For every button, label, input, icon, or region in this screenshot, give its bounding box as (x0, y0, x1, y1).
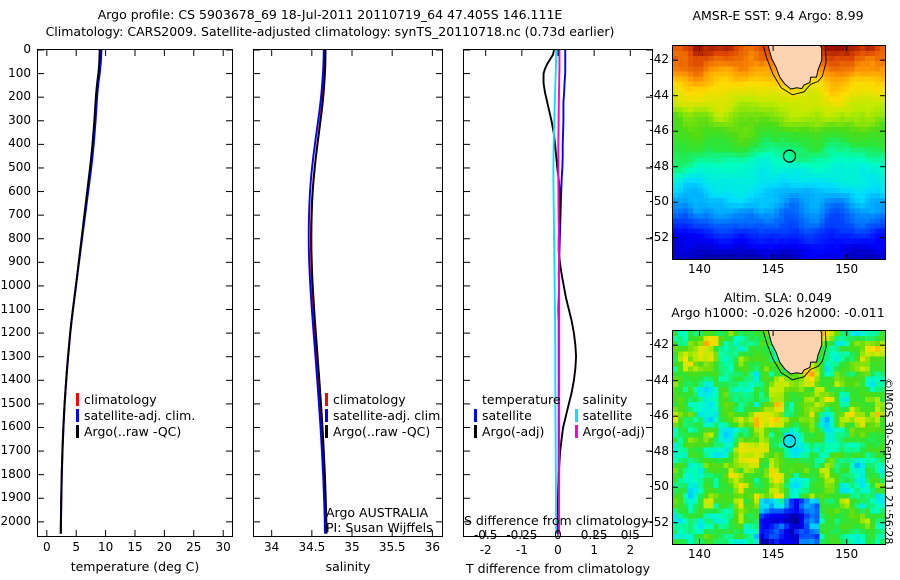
tick-label: 100 (0, 66, 31, 80)
sst-map-panel (672, 45, 886, 260)
legend-entry: climatology (325, 392, 444, 407)
tick-label: 36 (402, 540, 462, 554)
tick-label: 1000 (0, 278, 31, 292)
tick-label: -52 (637, 230, 669, 244)
legend-swatch (474, 409, 477, 422)
tick-label: 600 (0, 184, 31, 198)
legend-swatch (575, 425, 578, 438)
legend-label: Argo(-adj) (482, 424, 544, 439)
temperature-legend: climatologysatellite-adj. clim.Argo(..ra… (76, 392, 195, 440)
pi-label: PI: Susan Wijffels (326, 520, 433, 535)
legend-swatch (325, 393, 328, 406)
difference-s-axis-label: S difference from climatology (464, 513, 648, 528)
tick-label: -42 (637, 337, 669, 351)
figure-title-line2: Climatology: CARS2009. Satellite-adjuste… (0, 23, 660, 40)
tick-label: 1900 (0, 490, 31, 504)
agency-label: Argo AUSTRALIA (326, 505, 428, 520)
tick-label: -46 (637, 123, 669, 137)
tick-label: 700 (0, 207, 31, 221)
tick-label: 1500 (0, 396, 31, 410)
tick-label: 900 (0, 254, 31, 268)
legend-entry: satellite-adj. clim. (325, 408, 444, 423)
legend-entry: Argo(..raw -QC) (76, 424, 195, 439)
tick-label: 1600 (0, 419, 31, 433)
legend-swatch (76, 393, 79, 406)
tick-label: 0 (0, 42, 31, 56)
tick-label: -42 (637, 52, 669, 66)
legend-heading: salinity (583, 392, 649, 407)
salinity-profile-panel (253, 49, 443, 537)
tick-label: -50 (637, 479, 669, 493)
sla-map-title: Altim. SLA: 0.049 Argo h1000: -0.026 h20… (663, 290, 893, 320)
legend-swatch (325, 425, 328, 438)
legend-label: Argo(-adj) (583, 424, 645, 439)
legend-heading: temperature (482, 392, 561, 407)
sla-map-title-line2: Argo h1000: -0.026 h2000: -0.011 (663, 305, 893, 320)
difference-plot-area (464, 50, 652, 536)
legend-label: climatology (333, 392, 406, 407)
legend-label: satellite-adj. clim. (333, 408, 444, 423)
imos-credit: ©IMOS 30-Sep-2011 21:56:28 (882, 378, 895, 544)
legend-swatch (575, 409, 578, 422)
legend-entry: climatology (76, 392, 195, 407)
legend-swatch (474, 425, 477, 438)
legend-label: satellite (583, 408, 633, 423)
sla-map-title-line1: Altim. SLA: 0.049 (663, 290, 893, 305)
legend-entry: satellite-adj. clim. (76, 408, 195, 423)
salinity-plot-area (254, 50, 442, 536)
tick-label: 145 (743, 547, 803, 561)
tick-label: -48 (637, 159, 669, 173)
legend-swatch (76, 425, 79, 438)
difference-t-axis-label: T difference from climatology (455, 561, 661, 576)
sst-map-title: AMSR-E SST: 9.4 Argo: 8.99 (663, 8, 893, 23)
tick-label: -44 (637, 88, 669, 102)
legend-entry: satellite (474, 408, 561, 423)
tick-label: -52 (637, 515, 669, 529)
tick-label: 300 (0, 113, 31, 127)
tick-label: 500 (0, 160, 31, 174)
temperature-profile-panel (37, 49, 233, 537)
tick-label: -46 (637, 408, 669, 422)
tick-label: 1400 (0, 372, 31, 386)
figure-title-line1: Argo profile: CS 5903678_69 18-Jul-2011 … (0, 6, 660, 23)
tick-label: 150 (817, 262, 877, 276)
legend-label: climatology (84, 392, 157, 407)
tick-label: 145 (743, 262, 803, 276)
legend-label: Argo(..raw -QC) (333, 424, 430, 439)
tick-label: 140 (670, 262, 730, 276)
temperature-x-axis-label: temperature (deg C) (37, 559, 233, 574)
sla-map-image (673, 331, 885, 544)
legend-label: satellite-adj. clim. (84, 408, 195, 423)
legend-swatch (76, 409, 79, 422)
tick-label: 800 (0, 231, 31, 245)
tick-label: 2 (600, 543, 660, 557)
tick-label: 400 (0, 136, 31, 150)
legend-entry: Argo(-adj) (474, 424, 561, 439)
tick-label: 140 (670, 547, 730, 561)
difference-profile-panel (463, 49, 653, 537)
tick-label: 2000 (0, 514, 31, 528)
legend-label: satellite (482, 408, 532, 423)
tick-label: 0.5 (600, 528, 660, 542)
sst-map-image (673, 46, 885, 259)
tick-label: -50 (637, 194, 669, 208)
legend-swatch (325, 409, 328, 422)
difference-legend: temperaturesatelliteArgo(-adj)salinitysa… (474, 392, 649, 440)
temperature-plot-area (38, 50, 232, 536)
salinity-x-axis-label: salinity (253, 559, 443, 574)
tick-label: 1200 (0, 325, 31, 339)
legend-entry: Argo(..raw -QC) (325, 424, 444, 439)
tick-label: -44 (637, 373, 669, 387)
tick-label: 1800 (0, 467, 31, 481)
legend-label: Argo(..raw -QC) (84, 424, 181, 439)
tick-label: 200 (0, 89, 31, 103)
tick-label: 1300 (0, 349, 31, 363)
legend-group: temperaturesatelliteArgo(-adj) (474, 392, 561, 440)
figure-title: Argo profile: CS 5903678_69 18-Jul-2011 … (0, 6, 660, 40)
salinity-legend: climatologysatellite-adj. clim.Argo(..ra… (325, 392, 444, 440)
tick-label: -48 (637, 444, 669, 458)
tick-label: 150 (817, 547, 877, 561)
sla-map-panel (672, 330, 886, 545)
legend-entry: Argo(-adj) (575, 424, 649, 439)
tick-label: 1700 (0, 443, 31, 457)
tick-label: 1100 (0, 302, 31, 316)
